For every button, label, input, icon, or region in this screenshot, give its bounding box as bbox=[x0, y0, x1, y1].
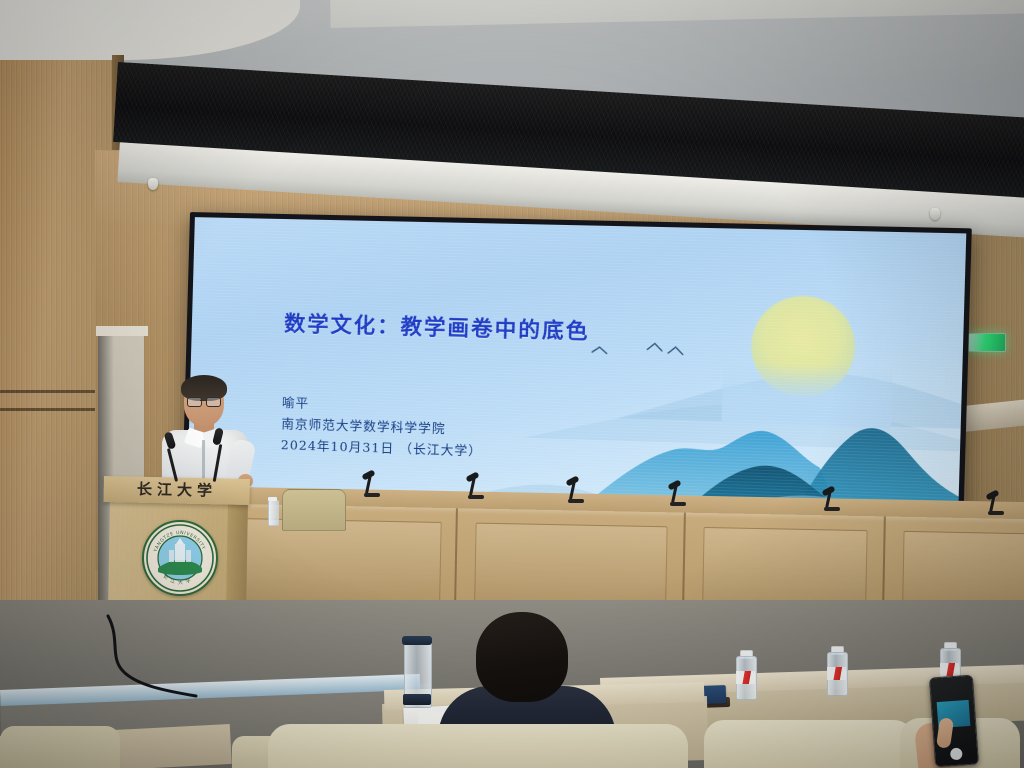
audience-person-head bbox=[476, 612, 568, 702]
water-bottle-2[interactable] bbox=[827, 652, 848, 696]
slide-speaker-name: 喻平 bbox=[282, 392, 310, 412]
podium-microphone-right[interactable] bbox=[206, 428, 230, 482]
stage-bottle-cap bbox=[268, 497, 277, 501]
doorway-header bbox=[96, 326, 148, 336]
stage-water-bottle[interactable] bbox=[268, 500, 279, 526]
floor-cable bbox=[100, 610, 240, 700]
tumbler-base bbox=[403, 694, 431, 705]
sun-graphic bbox=[750, 295, 857, 399]
presenter-glasses-bridge bbox=[200, 400, 206, 401]
audience-chair-left[interactable] bbox=[0, 726, 120, 768]
exit-sign bbox=[968, 333, 1006, 352]
sun-haze-mask bbox=[722, 362, 893, 429]
stage-chair[interactable] bbox=[282, 489, 346, 531]
distant-hill-mid bbox=[524, 377, 967, 452]
audience-chair-right-1[interactable] bbox=[704, 720, 914, 768]
slide-date-venue: 2024年10月31日 （长江大学） bbox=[281, 434, 483, 460]
university-seal-logo: YANGTZE UNIVERSITY 长 江 大 学 bbox=[142, 520, 218, 596]
distant-hill-right bbox=[617, 347, 966, 429]
lecture-hall-photo: 数学文化：教学画卷中的底色 喻平 南京师范大学数学科学学院 2024年10月31… bbox=[0, 0, 1024, 768]
ceiling-camera-left bbox=[148, 178, 158, 190]
presenter-glasses-right bbox=[206, 397, 221, 407]
phone-shutter-button[interactable] bbox=[950, 748, 963, 761]
presenter-glasses-left bbox=[187, 397, 202, 407]
water-bottle-1[interactable] bbox=[736, 656, 757, 700]
birds-flock-right bbox=[645, 339, 719, 361]
ceiling-camera-right bbox=[930, 208, 940, 220]
smartphone-camera[interactable] bbox=[929, 675, 979, 768]
birds-flock-left bbox=[590, 343, 653, 363]
tumbler-lid bbox=[402, 636, 432, 645]
slide-affiliation: 南京师范大学数学科学学院 bbox=[281, 413, 446, 437]
podium-microphone-left[interactable] bbox=[160, 432, 184, 482]
slide-title: 数学文化：教学画卷中的底色 bbox=[284, 307, 590, 345]
audience-chair-center[interactable] bbox=[268, 724, 688, 768]
